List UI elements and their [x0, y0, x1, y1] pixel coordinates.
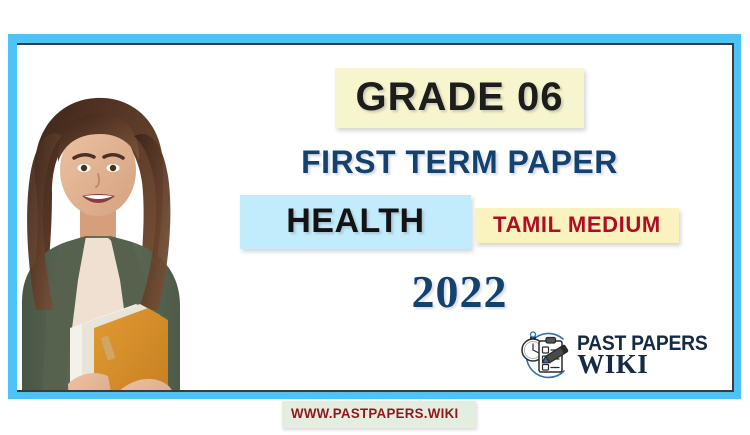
grade-band: GRADE 06	[335, 68, 583, 128]
card-inner-panel: GRADE 06 FIRST TERM PAPER HEALTH TAMIL M…	[17, 43, 732, 390]
logo-wordmark: PAST PAPERS WIKI	[577, 335, 719, 376]
blue-card-frame: GRADE 06 FIRST TERM PAPER HEALTH TAMIL M…	[8, 34, 741, 399]
student-photo	[17, 66, 208, 390]
medium-band: TAMIL MEDIUM	[475, 208, 679, 243]
stopwatch-clipboard-pen-icon	[515, 328, 573, 383]
medium-label: TAMIL MEDIUM	[493, 212, 661, 237]
exam-thumbnail-root: GRADE 06 FIRST TERM PAPER HEALTH TAMIL M…	[0, 0, 750, 435]
subject-label: HEALTH	[286, 202, 424, 240]
term-label: FIRST TERM PAPER	[197, 144, 722, 181]
brand-logo[interactable]: PAST PAPERS WIKI	[515, 328, 719, 383]
grade-label: GRADE 06	[355, 75, 563, 119]
footer-url-band[interactable]: WWW.PASTPAPERS.WIKI	[282, 401, 476, 428]
logo-line-wiki: WIKI	[577, 353, 719, 376]
footer-url-text: WWW.PASTPAPERS.WIKI	[291, 405, 458, 421]
year-label: 2022	[197, 265, 722, 318]
subject-band: HEALTH	[240, 195, 470, 249]
title-stack: GRADE 06 FIRST TERM PAPER HEALTH TAMIL M…	[197, 55, 722, 318]
